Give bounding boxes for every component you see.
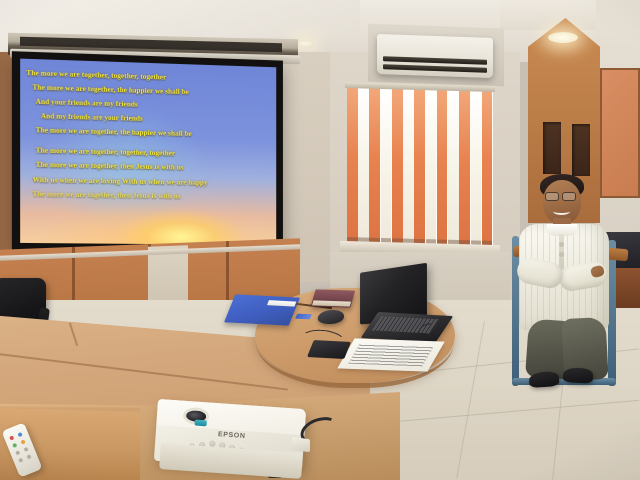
kurta-button xyxy=(559,252,564,257)
book-pages xyxy=(312,300,351,306)
air-conditioner-unit xyxy=(377,34,493,78)
lyric-line: And my friends are your friends xyxy=(26,113,270,126)
remote-button[interactable] xyxy=(18,458,23,463)
remote-button[interactable] xyxy=(17,432,22,437)
projected-slide: The more we are together, together, toge… xyxy=(20,59,276,245)
kurta-button xyxy=(559,242,564,247)
lyric-line: The more we are together, the happier we… xyxy=(26,84,270,98)
ceiling-downlight-icon xyxy=(296,40,314,47)
remote-button[interactable] xyxy=(15,450,20,455)
column-light-icon xyxy=(548,32,578,43)
lyric-line: The more we are together, the happier we… xyxy=(26,127,270,140)
blind-slat[interactable] xyxy=(448,89,459,249)
remote-button[interactable] xyxy=(20,439,25,444)
blind-slat[interactable] xyxy=(471,89,482,249)
remote-button[interactable] xyxy=(9,435,14,440)
blind-slat[interactable] xyxy=(459,89,470,249)
usb-drive[interactable] xyxy=(295,314,312,320)
projection-screen: The more we are together, together, toge… xyxy=(12,51,283,253)
wall-niche xyxy=(543,122,561,174)
blind-slat[interactable] xyxy=(403,88,414,248)
eyeglasses-icon xyxy=(562,192,576,201)
room-scene: The more we are together, together, toge… xyxy=(0,0,640,480)
window-vertical-blinds[interactable] xyxy=(347,86,493,250)
blind-slat[interactable] xyxy=(426,88,437,248)
blind-slat[interactable] xyxy=(381,87,392,247)
remote-button[interactable] xyxy=(12,443,17,448)
folder-papers xyxy=(267,300,296,306)
blind-slat[interactable] xyxy=(482,90,493,250)
tile-seam xyxy=(456,321,485,479)
blind-slat[interactable] xyxy=(437,88,448,248)
blue-folder[interactable] xyxy=(224,294,300,325)
vga-connector[interactable] xyxy=(292,437,310,453)
lyric-line: The more we are together, then Jesus is … xyxy=(26,162,270,174)
person-shoe xyxy=(529,371,560,388)
ac-vent xyxy=(383,64,487,73)
blind-slat[interactable] xyxy=(414,88,425,248)
blind-slat[interactable] xyxy=(347,86,358,246)
lyric-line: The more we are together, then Jesus is … xyxy=(26,191,270,202)
document-text-lines xyxy=(348,344,434,367)
person-shoe xyxy=(563,367,594,384)
lyric-line: And your friends are my friends xyxy=(26,99,270,113)
eyeglasses-icon xyxy=(545,192,559,201)
ac-vent xyxy=(383,56,487,65)
remote-button[interactable] xyxy=(26,454,31,459)
blind-slat[interactable] xyxy=(369,87,380,247)
blind-slat[interactable] xyxy=(358,86,369,246)
person-smile xyxy=(553,208,570,215)
maroon-book[interactable] xyxy=(311,289,355,307)
slide-lyrics: The more we are together, together, toge… xyxy=(20,70,276,209)
projector-brand-label: EPSON xyxy=(218,431,246,440)
seated-person xyxy=(505,168,625,418)
lyric-line: With us when we are loving With us when … xyxy=(26,176,270,187)
lyric-line: The more we are together, together, toge… xyxy=(26,70,270,85)
remote-button[interactable] xyxy=(23,447,28,452)
lyric-line: The more we are together, together, toge… xyxy=(26,148,270,160)
projector-focus-ring[interactable] xyxy=(194,420,206,427)
blind-slat[interactable] xyxy=(392,87,403,247)
